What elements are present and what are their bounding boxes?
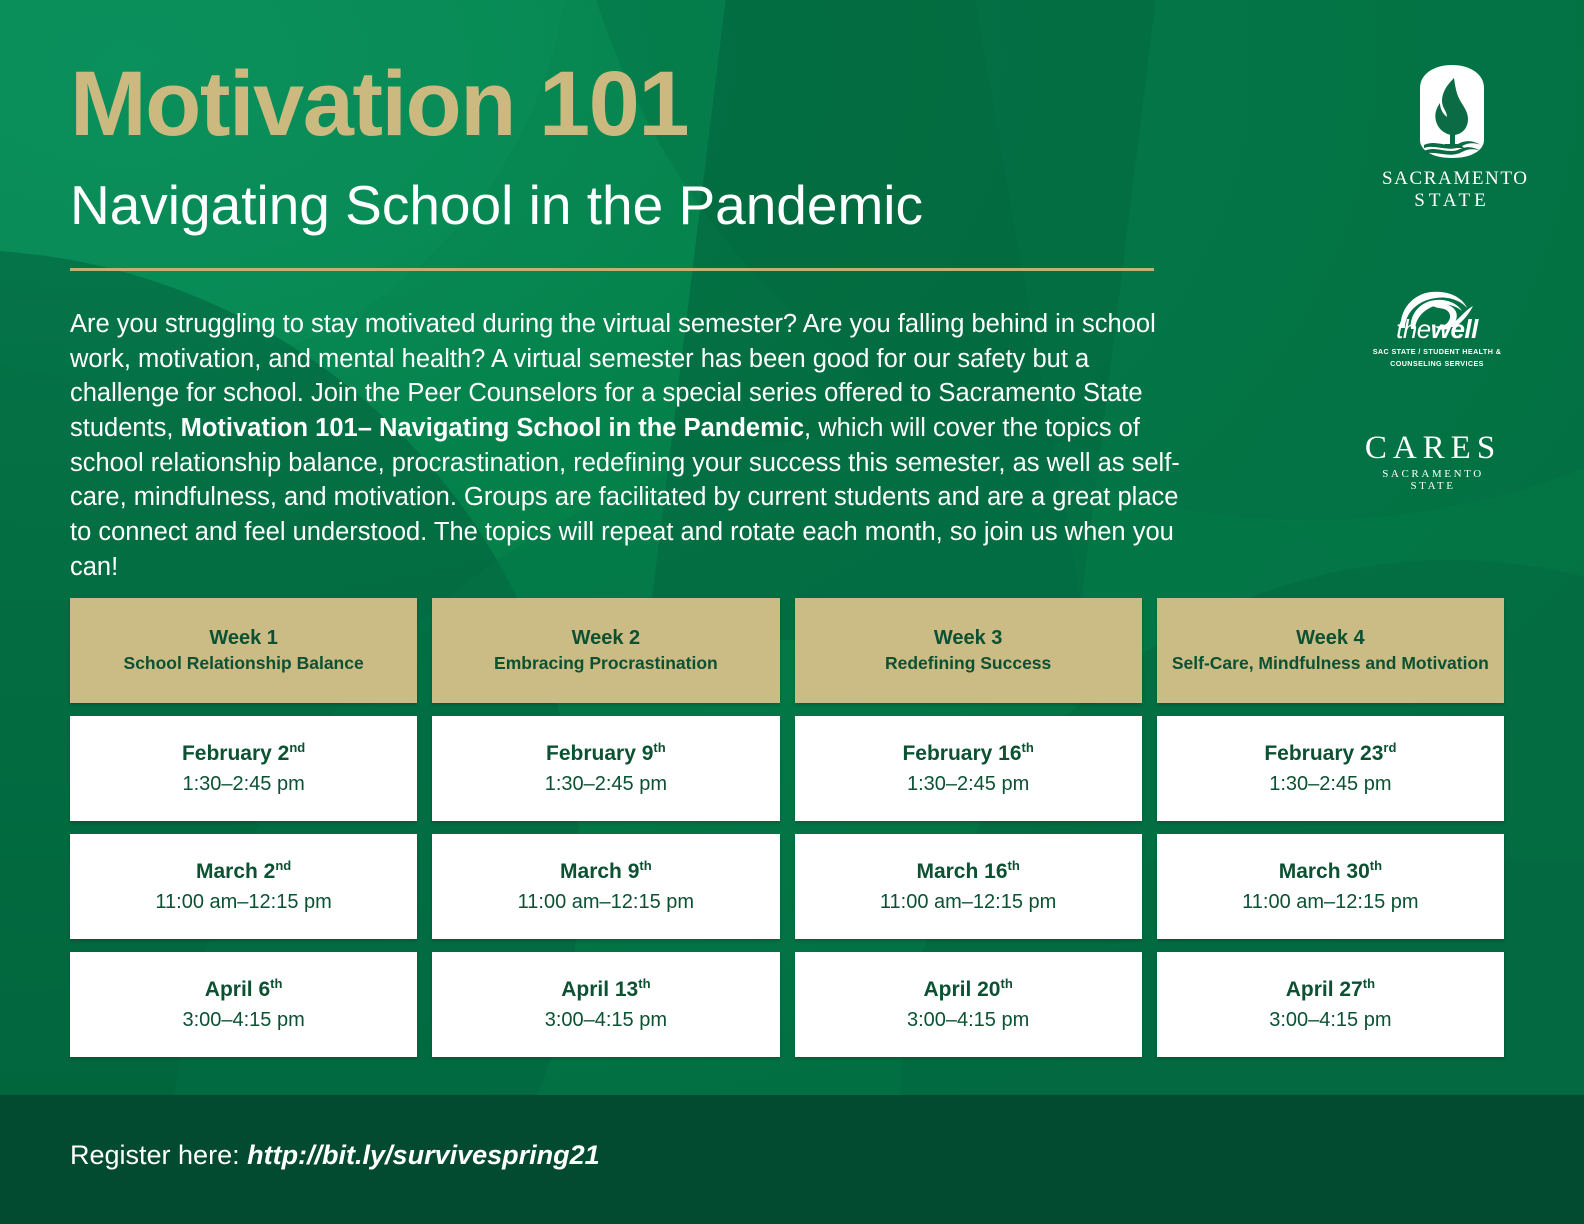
session-date-text: April 20 [923,978,1000,1001]
session-date-ordinal: th [638,976,650,991]
schedule-session-cell: April 20th 3:00–4:15 pm [795,952,1142,1057]
the-well-tagline-line1: SAC STATE / STUDENT HEALTH & [1362,347,1512,357]
session-date-text: March 30 [1279,860,1370,883]
session-time: 3:00–4:15 pm [182,1007,304,1033]
session-date-ordinal: th [1363,976,1375,991]
cares-logo: CARES SACRAMENTO STATE [1358,432,1508,492]
register-url[interactable]: http://bit.ly/survivespring21 [247,1140,600,1170]
schedule-session-cell: April 13th 3:00–4:15 pm [432,952,779,1057]
session-date: March 30th [1279,858,1382,885]
schedule-header-cell: Week 1 School Relationship Balance [70,598,417,703]
schedule-session-cell: February 23rd 1:30–2:45 pm [1157,716,1504,821]
schedule-header-topic: Embracing Procrastination [494,653,718,675]
intro-paragraph: Are you struggling to stay motivated dur… [70,307,1180,584]
session-time: 3:00–4:15 pm [907,1007,1029,1033]
the-well-tagline-line2: COUNSELING SERVICES [1362,359,1512,369]
schedule-header-cell: Week 4 Self-Care, Mindfulness and Motiva… [1157,598,1504,703]
the-well-wordmark: thewell [1362,314,1512,345]
session-time: 11:00 am–12:15 pm [155,889,331,915]
session-time: 11:00 am–12:15 pm [880,889,1056,915]
schedule-session-cell: February 16th 1:30–2:45 pm [795,716,1142,821]
schedule-session-cell: March 2nd 11:00 am–12:15 pm [70,834,417,939]
schedule-header-week: Week 3 [934,626,1003,651]
schedule-header-topic: Redefining Success [885,653,1051,675]
session-date-text: April 6 [205,978,270,1001]
schedule-session-cell: March 9th 11:00 am–12:15 pm [432,834,779,939]
intro-paragraph-emphasis: Motivation 101– Navigating School in the… [181,414,804,442]
session-date-ordinal: th [1022,740,1034,755]
session-date-text: March 2 [196,860,275,883]
session-date: March 9th [560,858,652,885]
session-date-text: March 9 [560,860,639,883]
the-well-logo: thewell SAC STATE / STUDENT HEALTH & COU… [1362,288,1512,368]
schedule-header-cell: Week 2 Embracing Procrastination [432,598,779,703]
schedule-header-topic: School Relationship Balance [124,653,364,675]
session-date: April 20th [923,976,1012,1003]
session-time: 3:00–4:15 pm [545,1007,667,1033]
session-date-text: March 16 [916,860,1007,883]
session-time: 1:30–2:45 pm [182,771,304,797]
schedule-header-cell: Week 3 Redefining Success [795,598,1142,703]
session-date: March 16th [916,858,1019,885]
register-line: Register here: http://bit.ly/survivespri… [70,1140,600,1171]
schedule-header-week: Week 4 [1296,626,1365,651]
session-date-ordinal: nd [289,740,305,755]
session-date-text: April 27 [1286,978,1363,1001]
session-date-ordinal: nd [275,858,291,873]
session-date-ordinal: rd [1383,740,1396,755]
the-well-word-the: the [1396,314,1431,344]
session-date: March 2nd [196,858,291,885]
cares-wordmark: CARES [1358,432,1508,465]
session-date: April 13th [561,976,650,1003]
session-date: February 16th [902,740,1033,767]
schedule-session-cell: April 6th 3:00–4:15 pm [70,952,417,1057]
session-date: April 6th [205,976,283,1003]
sacstate-logo-line2: STATE [1382,190,1522,212]
session-time: 1:30–2:45 pm [1269,771,1391,797]
schedule-session-cell: February 9th 1:30–2:45 pm [432,716,779,821]
schedule-session-cell: March 16th 11:00 am–12:15 pm [795,834,1142,939]
session-date-ordinal: th [1370,858,1382,873]
session-date-ordinal: th [639,858,651,873]
session-date-ordinal: th [1008,858,1020,873]
session-date: February 23rd [1264,740,1396,767]
schedule-grid: Week 1 School Relationship Balance Week … [70,598,1504,1057]
schedule-header-week: Week 1 [209,626,278,651]
session-date-text: April 13 [561,978,638,1001]
session-date-text: February 9 [546,742,653,765]
title-divider [70,268,1154,271]
session-time: 1:30–2:45 pm [545,771,667,797]
schedule-session-cell: February 2nd 1:30–2:45 pm [70,716,417,821]
session-date-text: February 23 [1264,742,1383,765]
session-date-ordinal: th [653,740,665,755]
the-well-word-well: well [1431,314,1478,344]
session-date-text: February 2 [182,742,289,765]
page-subtitle: Navigating School in the Pandemic [70,178,923,233]
session-time: 11:00 am–12:15 pm [518,889,694,915]
session-time: 11:00 am–12:15 pm [1242,889,1418,915]
register-label: Register here: [70,1140,247,1170]
session-date-text: February 16 [902,742,1021,765]
page-title: Motivation 101 [70,58,688,150]
cares-subtitle: SACRAMENTO STATE [1358,468,1508,492]
session-date: February 2nd [182,740,305,767]
session-time: 1:30–2:45 pm [907,771,1029,797]
schedule-session-cell: April 27th 3:00–4:15 pm [1157,952,1504,1057]
schedule-header-topic: Self-Care, Mindfulness and Motivation [1172,653,1489,675]
session-time: 3:00–4:15 pm [1269,1007,1391,1033]
session-date: April 27th [1286,976,1375,1003]
poster-canvas: Motivation 101 Navigating School in the … [0,0,1584,1224]
schedule-header-week: Week 2 [572,626,641,651]
session-date: February 9th [546,740,666,767]
schedule-session-cell: March 30th 11:00 am–12:15 pm [1157,834,1504,939]
sacstate-logo-line1: SACRAMENTO [1382,168,1522,190]
session-date-ordinal: th [1000,976,1012,991]
sacstate-torch-crest-icon [1416,62,1488,162]
session-date-ordinal: th [270,976,282,991]
sacramento-state-logo: SACRAMENTO STATE [1382,62,1522,212]
